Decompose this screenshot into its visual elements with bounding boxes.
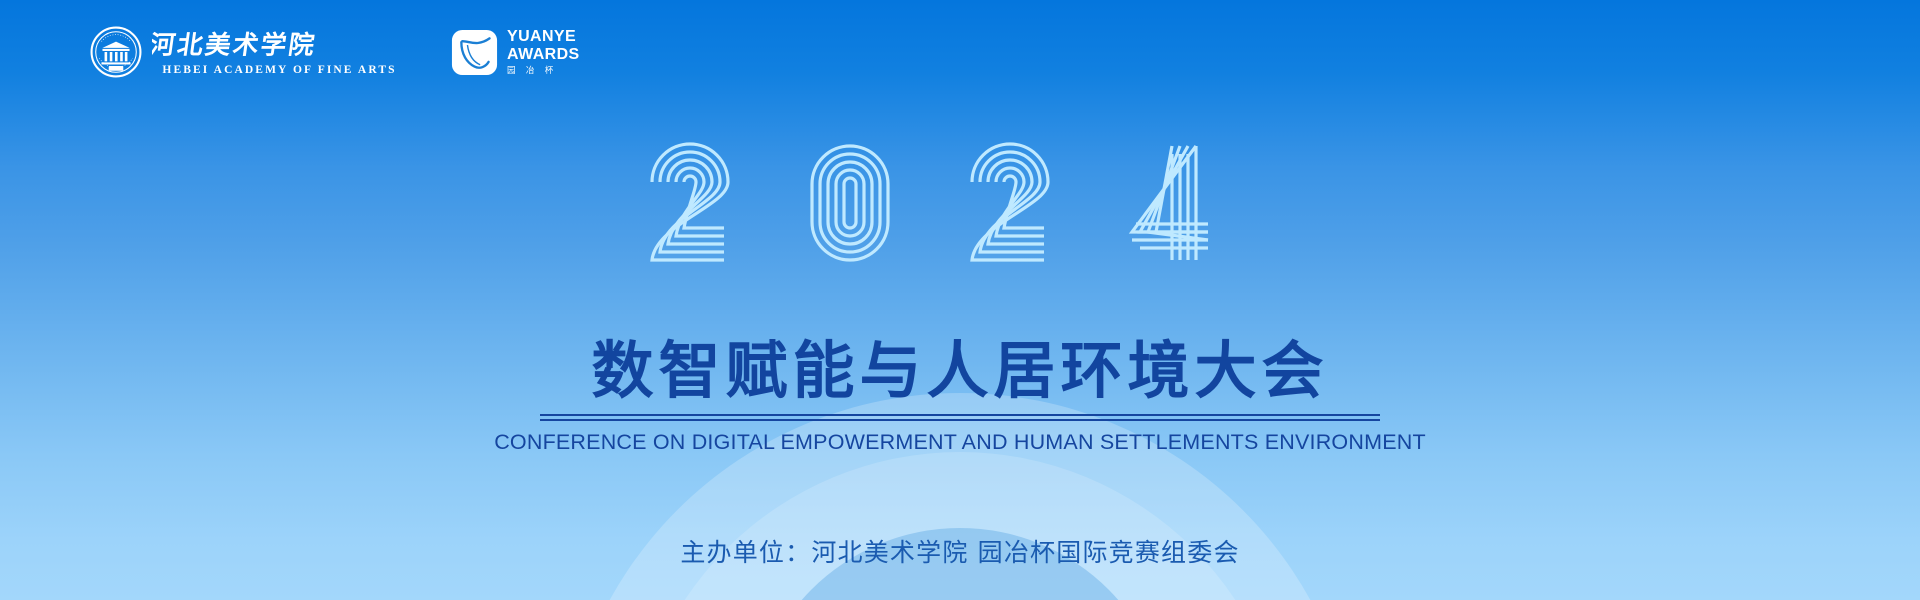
hebei-name-block: 河北美术学院 HEBEI ACADEMY OF FINE ARTS bbox=[152, 28, 407, 77]
divider-line-top bbox=[540, 414, 1380, 416]
conference-title-en: CONFERENCE ON DIGITAL EMPOWERMENT AND HU… bbox=[0, 430, 1920, 455]
yuanye-awards-logo: YUANYE AWARDS 园 冶 杯 bbox=[451, 29, 580, 76]
university-seal-icon bbox=[90, 26, 142, 78]
yuanye-swoosh-icon bbox=[451, 29, 498, 76]
hebei-name-cn-calligraphy: 河北美术学院 bbox=[152, 28, 407, 62]
year-2024-striped bbox=[640, 136, 1280, 266]
conference-banner: 河北美术学院 HEBEI ACADEMY OF FINE ARTS YUANYE… bbox=[0, 0, 1920, 600]
title-divider bbox=[540, 414, 1380, 421]
svg-text:河北美术学院: 河北美术学院 bbox=[152, 29, 319, 60]
yuanye-name-block: YUANYE AWARDS 园 冶 杯 bbox=[507, 29, 580, 75]
background-arc-middle bbox=[630, 452, 1290, 600]
yuanye-line2: AWARDS bbox=[507, 47, 580, 63]
logo-row: 河北美术学院 HEBEI ACADEMY OF FINE ARTS YUANYE… bbox=[90, 26, 580, 78]
yuanye-line1: YUANYE bbox=[507, 29, 580, 45]
hebei-academy-logo: 河北美术学院 HEBEI ACADEMY OF FINE ARTS bbox=[90, 26, 407, 78]
year-graphic bbox=[0, 136, 1920, 266]
divider-line-bottom bbox=[540, 419, 1380, 421]
conference-title-cn: 数智赋能与人居环境大会 bbox=[0, 338, 1920, 403]
yuanye-name-cn: 园 冶 杯 bbox=[507, 66, 580, 75]
organizer-line: 主办单位：河北美术学院 园冶杯国际竞赛组委会 bbox=[0, 533, 1920, 569]
hebei-name-en: HEBEI ACADEMY OF FINE ARTS bbox=[162, 65, 396, 77]
title-block: 数智赋能与人居环境大会 CONFERENCE ON DIGITAL EMPOWE… bbox=[0, 338, 1920, 455]
